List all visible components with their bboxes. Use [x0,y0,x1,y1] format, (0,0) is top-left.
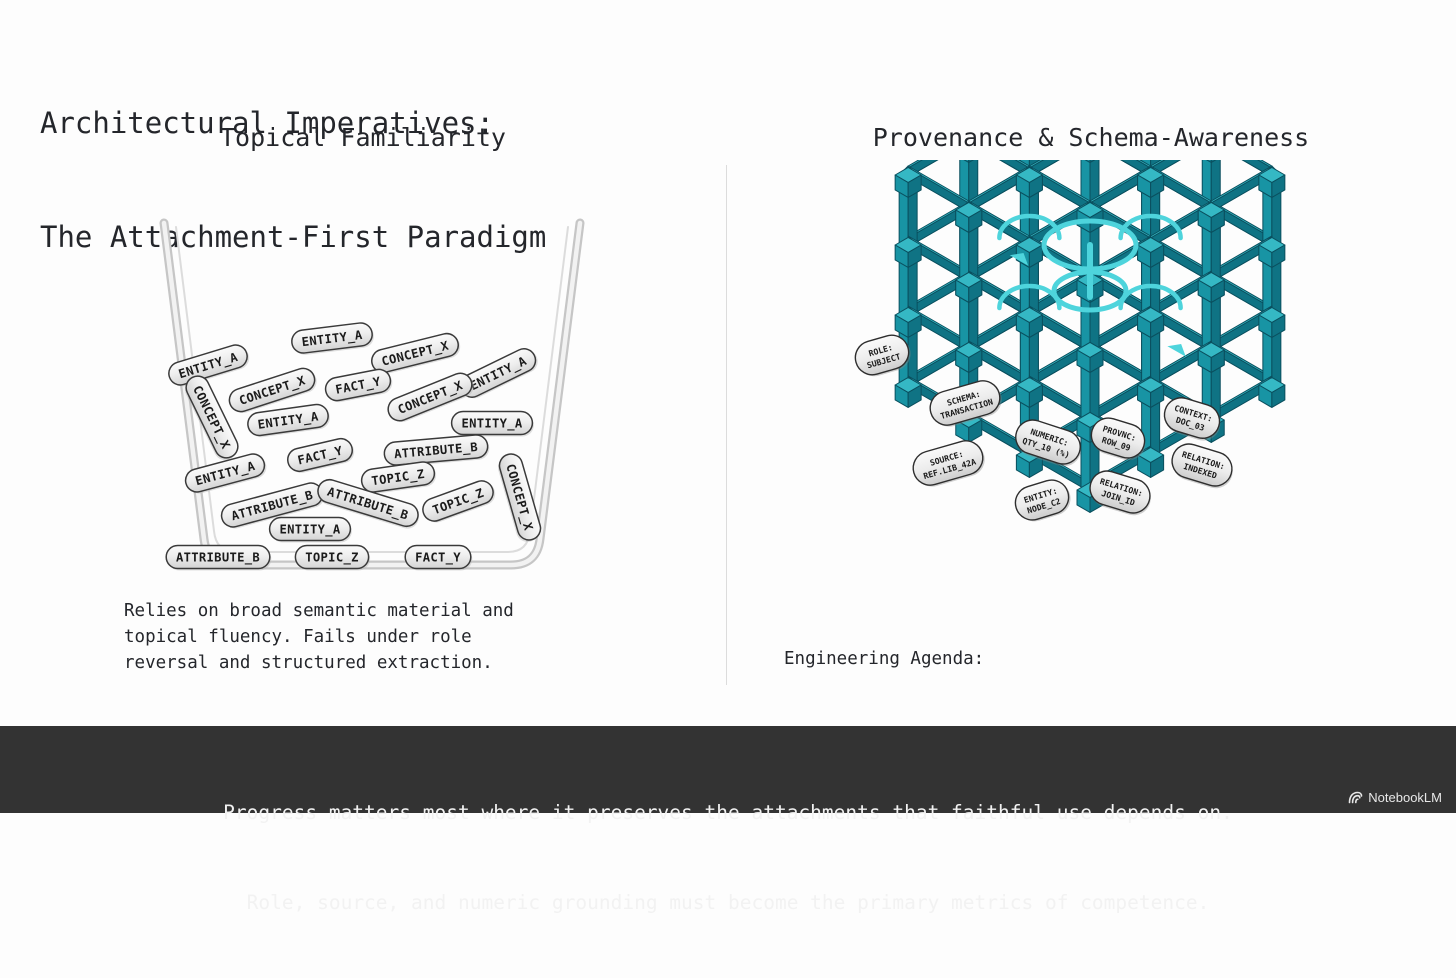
right-column-heading: Provenance & Schema-Awareness [726,123,1456,152]
footer-line-2: Role, source, and numeric grounding must… [0,888,1456,918]
svg-text:TOPIC_Z: TOPIC_Z [305,551,358,566]
label-pill: TOPIC_Z [295,546,370,571]
slide-canvas: Architectural Imperatives: The Attachmen… [0,0,1456,813]
label-pill-group: ENTITY_AENTITY_ACONCEPT_XENTITY_ACONCEPT… [166,321,544,570]
label-pill: TOPIC_Z [420,477,499,526]
left-column-heading: Topical Familiarity [0,123,726,152]
caption-line: topical fluency. Fails under role [124,624,514,650]
basket-figure: ENTITY_AENTITY_ACONCEPT_XENTITY_ACONCEPT… [120,205,620,585]
label-pill: ENTITY_A [452,412,534,437]
agenda-title: Engineering Agenda: [784,646,1332,672]
label-pill: ATTRIBUTE_B [383,434,490,468]
label-pill: TOPIC_Z [360,460,437,495]
svg-text:ENTITY_A: ENTITY_A [279,523,340,538]
label-pill: ATTRIBUTE_B [166,546,271,571]
node-label-pill: SOURCE:REF.LIB_42A [909,436,989,491]
node-label-pill: RELATION:INDEXED [1167,440,1237,493]
notebook-spiral-icon [1348,791,1363,804]
lattice-figure: ROLE:SUBJECTSCHEMA:TRANSACTIONSOURCE:REF… [820,160,1360,600]
caption-line: reversal and structured extraction. [124,650,514,676]
footer-text: Progress matters most where it preserves… [0,738,1456,978]
footer-bar: Progress matters most where it preserves… [0,726,1456,813]
brand-label: NotebookLM [1368,790,1442,805]
node-label-pill: ENTITY:NODE_C2 [1011,475,1075,526]
label-pill: FACT_Y [324,367,395,404]
label-pill: CONCEPT_X [495,451,544,544]
label-pill: FACT_Y [285,436,356,475]
footer-line-1: Progress matters most where it preserves… [0,798,1456,828]
label-pill: ENTITY_A [290,321,375,356]
caption-line: Relies on broad semantic material and [124,598,514,624]
notebooklm-brand: NotebookLM [1348,790,1442,805]
label-pill: FACT_Y [405,546,472,571]
svg-text:FACT_Y: FACT_Y [415,551,461,566]
column-divider [726,165,727,685]
label-pill: ENTITY_A [270,518,352,543]
svg-text:ATTRIBUTE_B: ATTRIBUTE_B [176,551,260,566]
svg-text:ENTITY_A: ENTITY_A [461,417,522,432]
left-caption: Relies on broad semantic material andtop… [124,598,514,676]
